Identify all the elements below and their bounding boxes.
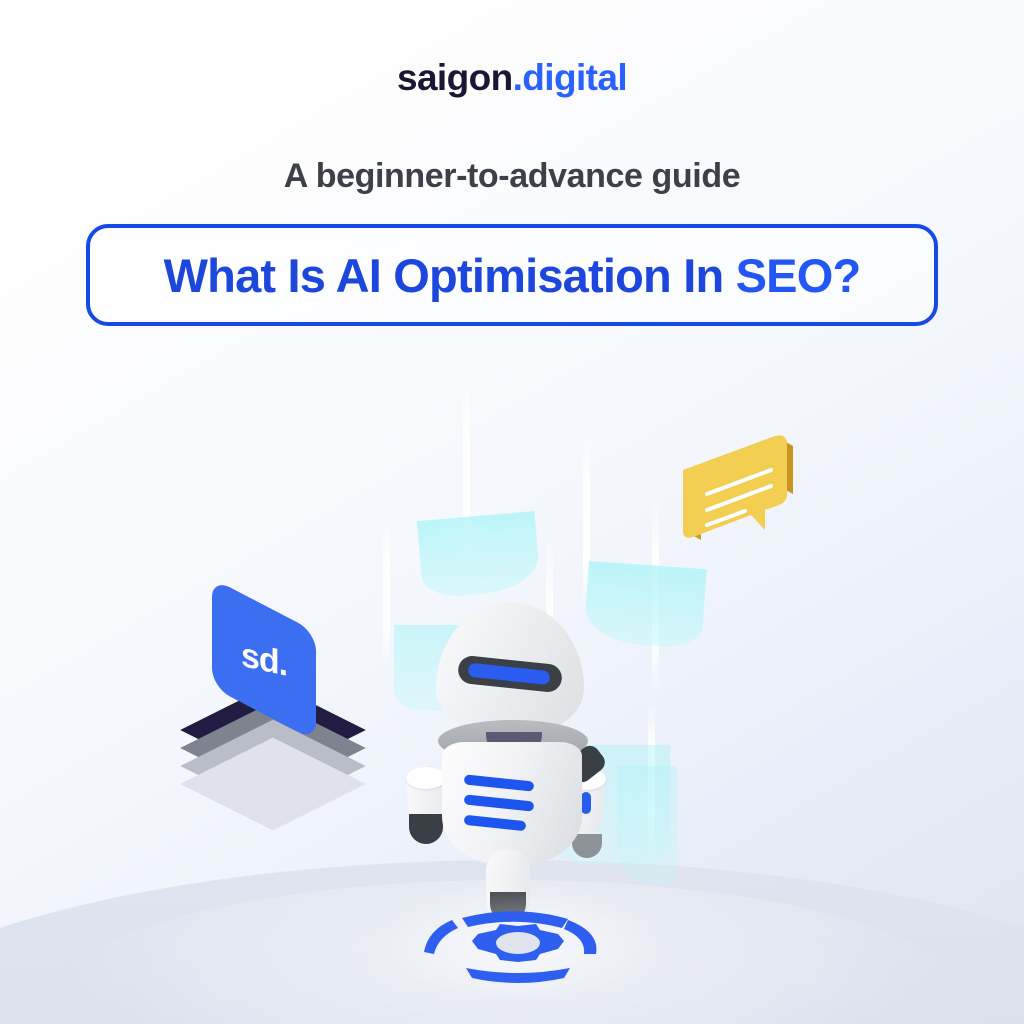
sd-card-face: sd. bbox=[212, 578, 316, 741]
eyebrow-text: A beginner-to-advance guide bbox=[0, 157, 1024, 196]
speech-bubble-svg bbox=[679, 432, 799, 557]
gear-center-hole bbox=[496, 932, 540, 954]
gear-svg bbox=[418, 898, 618, 984]
speech-bubble-icon bbox=[679, 432, 799, 557]
brand-logo: saigon.digital bbox=[0, 57, 1024, 99]
sd-card: sd. bbox=[212, 578, 332, 728]
robot-visor-light bbox=[467, 663, 550, 685]
gear-icon bbox=[418, 898, 618, 984]
robot-right-arm-indicator bbox=[581, 792, 591, 814]
headline-box: What Is AI Optimisation In SEO? bbox=[86, 224, 938, 326]
logo-secondary-text: .digital bbox=[513, 57, 627, 98]
hologram-panel bbox=[417, 511, 541, 599]
logo-primary-text: saigon bbox=[397, 57, 513, 98]
poster-canvas: saigon.digital A beginner-to-advance gui… bbox=[0, 0, 1024, 1024]
robot-left-cuff bbox=[406, 767, 446, 789]
robot-left-hand bbox=[409, 814, 443, 844]
robot-right-hand-lower bbox=[572, 834, 602, 858]
sd-card-label: sd. bbox=[241, 635, 287, 684]
headline-main-text: What Is AI Optimisation In bbox=[164, 249, 736, 302]
page-title: What Is AI Optimisation In SEO? bbox=[164, 252, 861, 299]
headline-accent-text: SEO? bbox=[736, 249, 861, 302]
ai-robot bbox=[398, 592, 638, 922]
light-streak bbox=[383, 518, 390, 668]
